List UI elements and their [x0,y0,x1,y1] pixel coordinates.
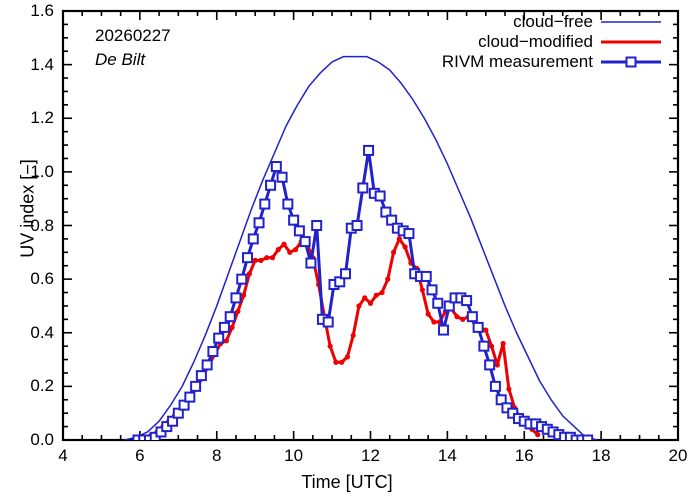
annotation-date: 20260227 [95,26,171,46]
y-tick-label: 1.2 [8,108,54,128]
x-tick-label: 12 [361,446,380,466]
y-tick-label: 0.2 [8,376,54,396]
plot-frame [63,11,678,440]
x-axis-label: Time [UTC] [0,472,694,493]
legend-label-cloud-modified: cloud−modified [478,32,593,52]
series-cloud-modified [137,236,540,442]
annotation-site: De Bilt [95,50,145,70]
y-tick-label: 0.6 [8,269,54,289]
y-axis-label: UV index [−] [18,129,39,289]
x-tick-label: 18 [592,446,611,466]
y-tick-label: 1.0 [8,162,54,182]
legend-label-cloud-free: cloud−free [513,12,593,32]
x-tick-label: 10 [284,446,303,466]
plot-canvas [0,0,694,501]
y-tick-label: 0.0 [8,430,54,450]
axis-ticks [63,11,678,440]
uv-index-chart-figure: 20260227 De Bilt cloud−free cloud−modifi… [0,0,694,501]
x-tick-label: 20 [669,446,688,466]
legend-samples [601,22,661,67]
y-tick-label: 0.4 [8,323,54,343]
x-tick-label: 6 [135,446,144,466]
x-tick-label: 14 [438,446,457,466]
x-tick-label: 4 [58,446,67,466]
x-tick-label: 16 [515,446,534,466]
y-tick-label: 0.8 [8,216,54,236]
y-tick-label: 1.4 [8,55,54,75]
series-rivm-measurement [133,146,592,445]
x-tick-label: 8 [212,446,221,466]
legend-label-rivm-measurement: RIVM measurement [442,52,593,72]
y-tick-label: 1.6 [8,1,54,21]
